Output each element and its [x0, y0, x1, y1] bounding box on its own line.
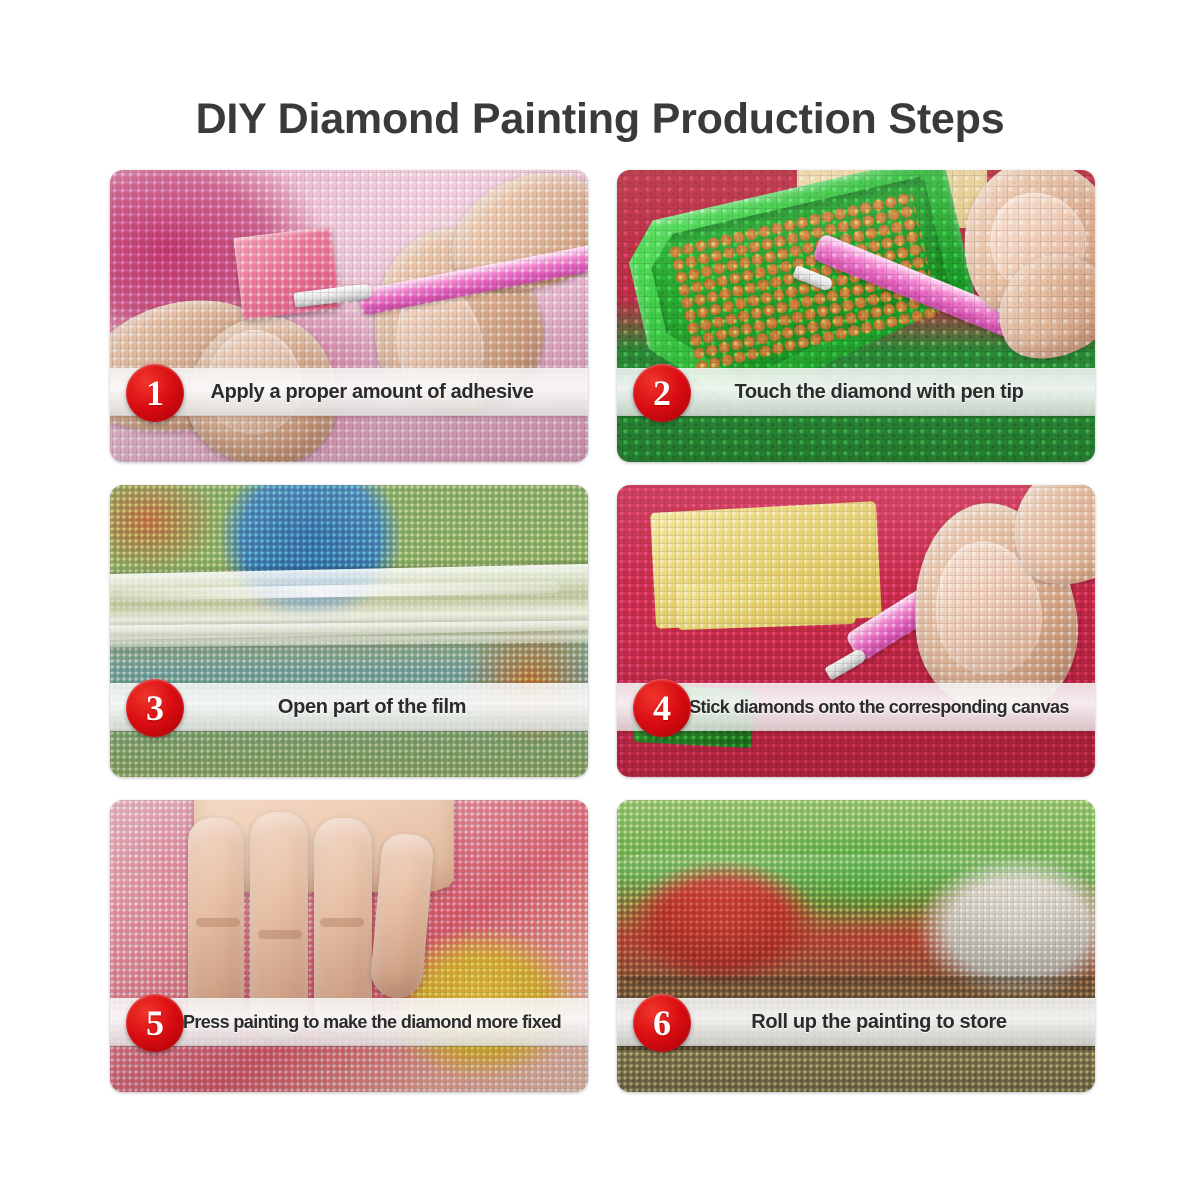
step-badge-5: 5	[126, 994, 184, 1052]
step-photo-5	[110, 800, 588, 1092]
page-title: DIY Diamond Painting Production Steps	[0, 95, 1200, 144]
step-number-3: 3	[146, 690, 164, 726]
infographic-page: DIY Diamond Painting Production Steps	[0, 0, 1200, 1200]
step-caption-6: Roll up the painting to store	[705, 1011, 1006, 1034]
step-badge-1: 1	[126, 364, 184, 422]
step-photo-2	[617, 170, 1095, 462]
step-badge-2: 2	[633, 364, 691, 422]
step-caption-2: Touch the diamond with pen tip	[688, 381, 1023, 404]
step-card-4[interactable]: Stick diamonds onto the corresponding ca…	[617, 485, 1095, 777]
yellow-diamond-patch-lower	[676, 578, 855, 630]
step-card-2[interactable]: Touch the diamond with pen tip 2	[617, 170, 1095, 462]
step-photo-1	[110, 170, 588, 462]
knuckle-crease	[258, 930, 302, 939]
step-number-4: 4	[653, 690, 671, 726]
step-card-3[interactable]: Open part of the film 3	[110, 485, 588, 777]
step-number-6: 6	[653, 1005, 671, 1041]
step-photo-3	[110, 485, 588, 777]
step-photo-4	[617, 485, 1095, 777]
step-caption-3: Open part of the film	[232, 696, 466, 719]
knuckle-crease	[320, 918, 364, 927]
step-number-1: 1	[146, 375, 164, 411]
adhesive-wax-square	[233, 226, 340, 319]
step-number-2: 2	[653, 375, 671, 411]
steps-grid: Apply a proper amount of adhesive 1	[110, 170, 1095, 1095]
step-badge-6: 6	[633, 994, 691, 1052]
step-number-5: 5	[146, 1005, 164, 1041]
rolled-painting-body	[617, 854, 1095, 984]
step-caption-5: Press painting to make the diamond more …	[137, 1012, 561, 1033]
step-photo-6	[617, 800, 1095, 1092]
step-badge-4: 4	[633, 679, 691, 737]
step-card-6[interactable]: Roll up the painting to store 6	[617, 800, 1095, 1092]
step-card-5[interactable]: Press painting to make the diamond more …	[110, 800, 588, 1092]
step-card-1[interactable]: Apply a proper amount of adhesive 1	[110, 170, 588, 462]
knuckle-crease	[196, 918, 240, 927]
step-caption-1: Apply a proper amount of adhesive	[165, 381, 534, 404]
step-badge-3: 3	[126, 679, 184, 737]
step-caption-4: Stick diamonds onto the corresponding ca…	[643, 697, 1069, 718]
